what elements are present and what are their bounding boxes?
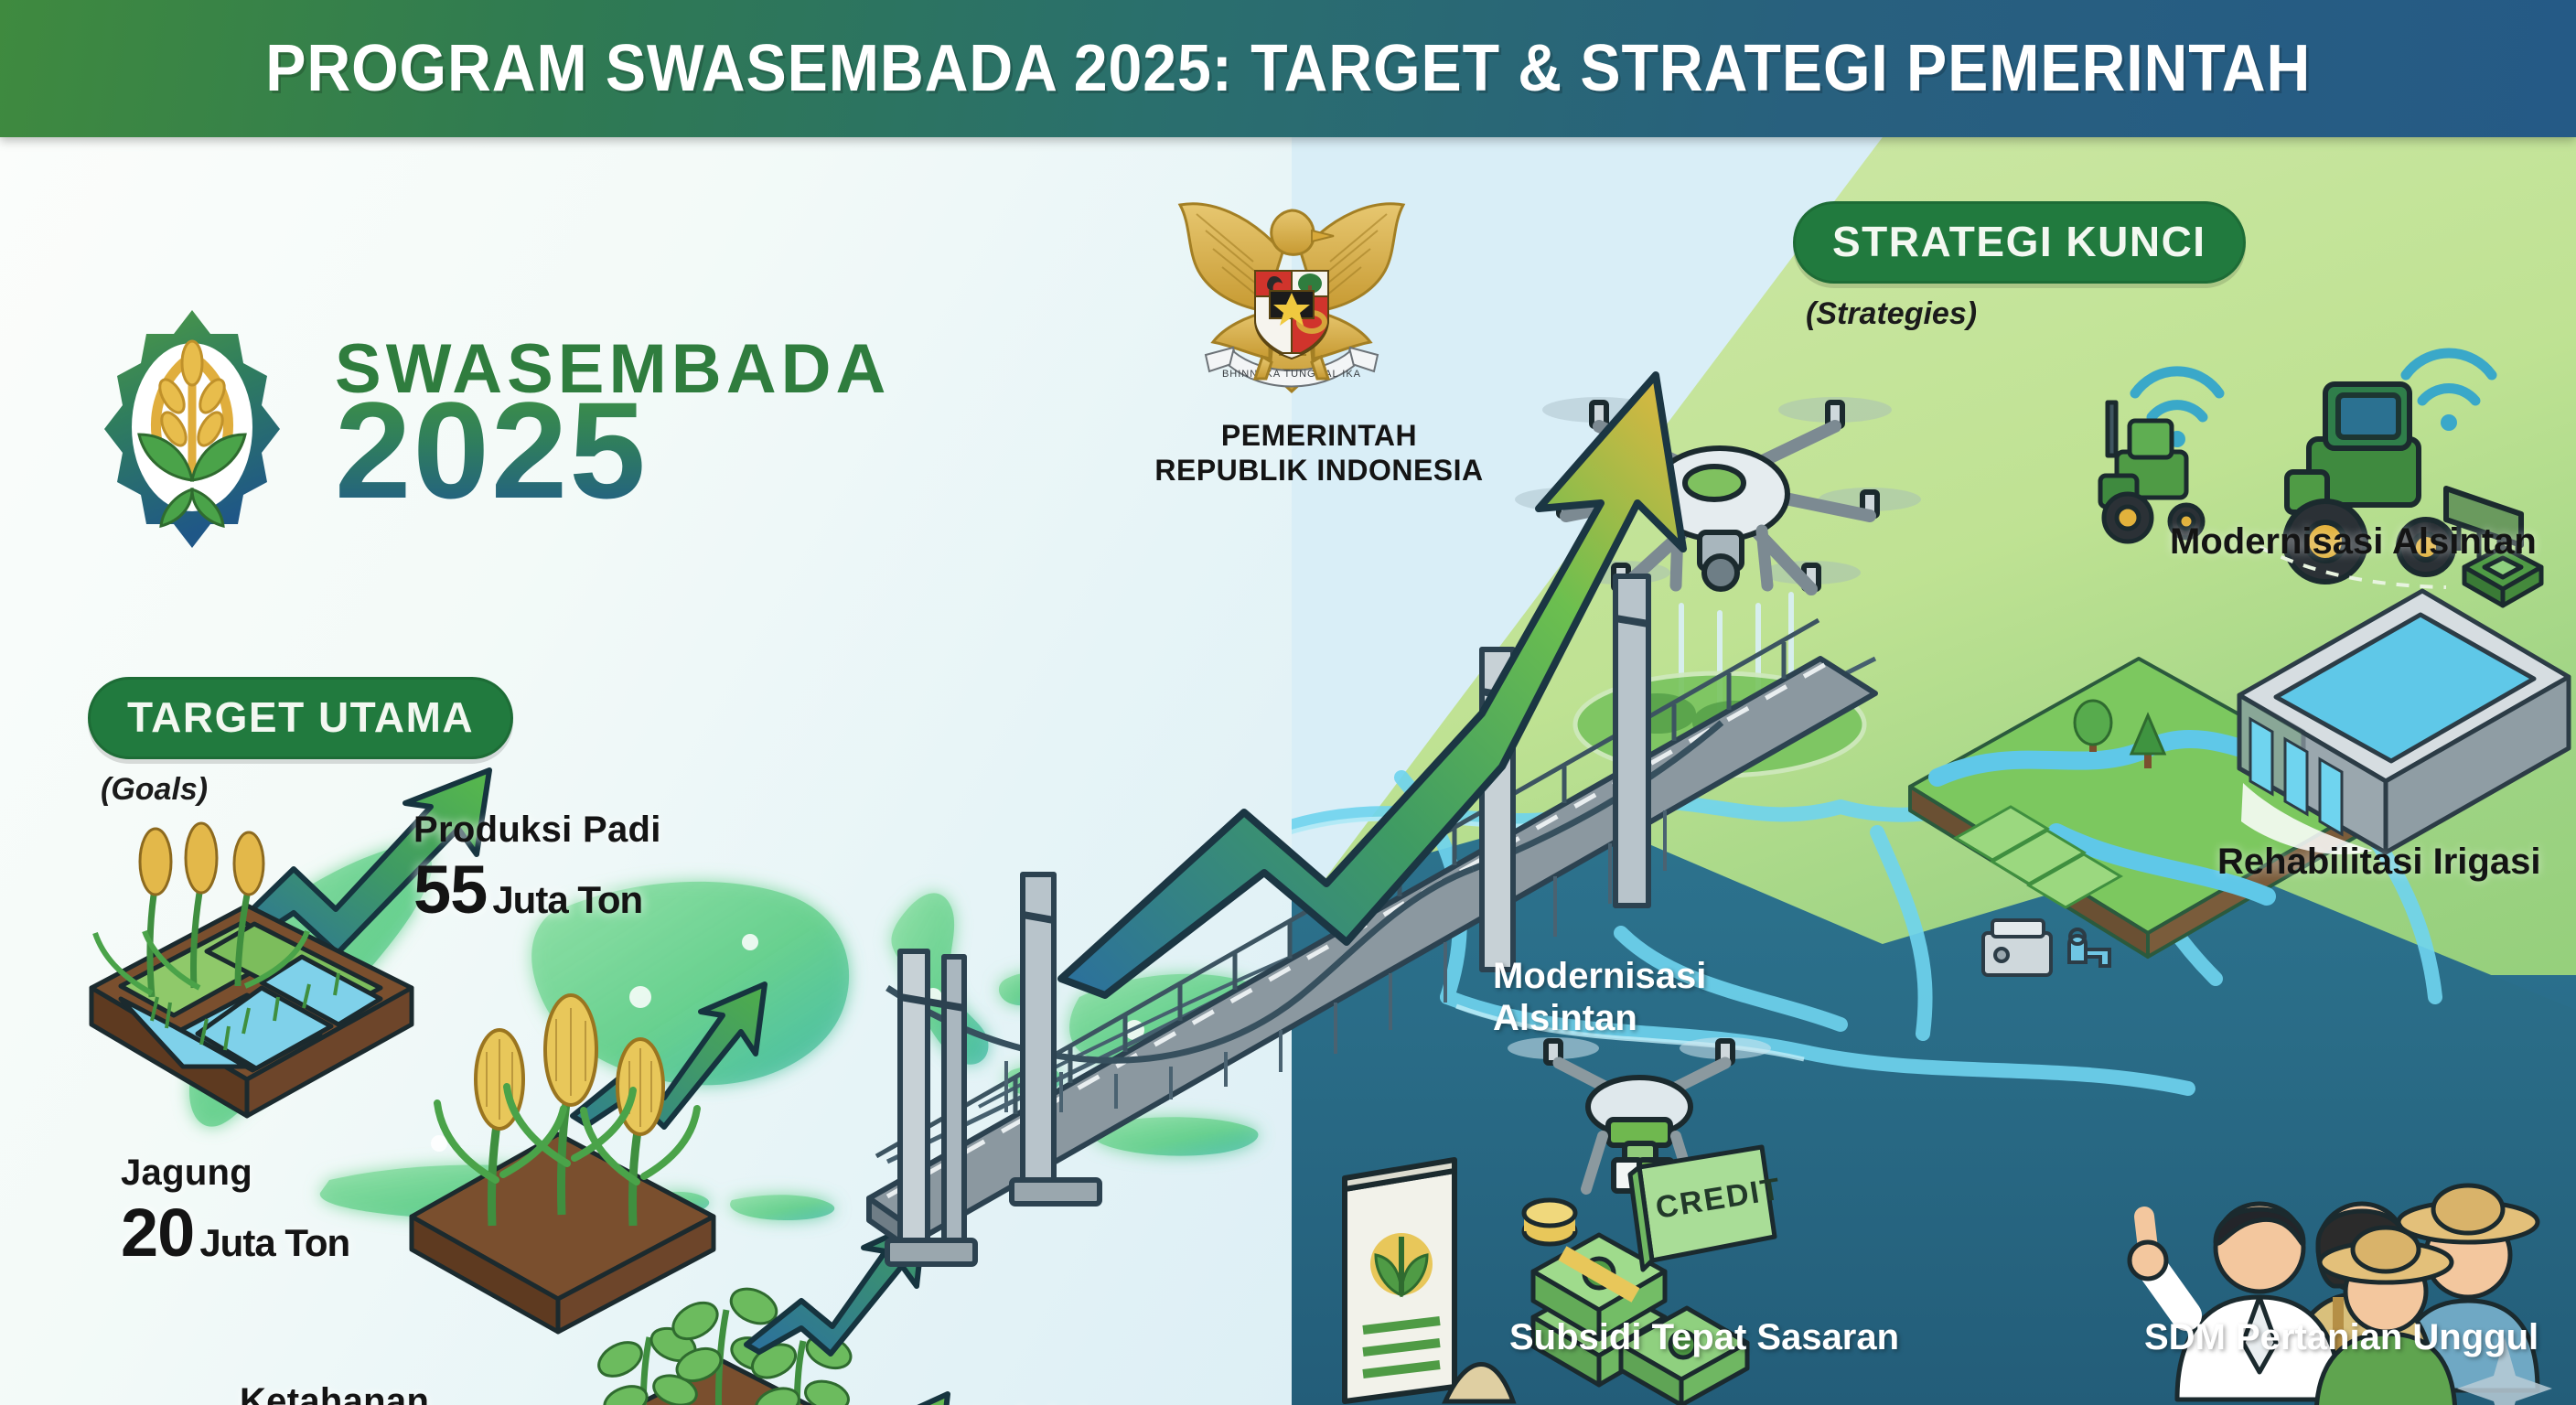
strategy-label-modernisasi-alsintan-mid: Modernisasi Alsintan [1493,956,1706,1039]
strategi-kunci-badge[interactable]: STRATEGI KUNCI [1793,201,2246,284]
strategi-kunci-header: STRATEGI KUNCI (Strategies) [1793,201,2246,332]
poster-title: PROGRAM SWASEMBADA 2025: TARGET & STRATE… [265,31,2311,106]
target-stat-padi: Produksi Padi 55Juta Ton [413,810,661,928]
tractor-smart-farming-icon [2080,293,2574,640]
strategy-label-modernisasi-alsintan-top: Modernisasi Alsintan [2170,521,2537,563]
emblem-caption-line1: PEMERINTAH [1154,419,1484,454]
strategy-label-rehabilitasi-irigasi: Rehabilitasi Irigasi [2217,842,2540,884]
target-value-jagung: 20Juta Ton [121,1194,349,1271]
svg-text:BHINNEKA TUNGGAL IKA: BHINNEKA TUNGGAL IKA [1222,369,1361,380]
farmers-group-icon [2071,1098,2547,1405]
target-label-ketahanan-line1: Ketahanan [240,1381,539,1405]
garuda-emblem-block: BHINNEKA TUNGGAL IKA PEMERINTAH REPUBLIK… [1154,183,1484,488]
target-stat-kedelai: Kedelai 2Juta Ton [957,1401,1149,1405]
infographic-poster: PROGRAM SWASEMBADA 2025: TARGET & STRATE… [0,0,2576,1405]
target-stat-ketahanan-pangan: Ketahanan Pangan Nasional 100% [240,1381,539,1405]
garuda-pancasila-emblem-icon: BHINNEKA TUNGGAL IKA [1154,183,1429,412]
target-utama-subtitle: (Goals) [101,772,513,808]
strategy-label-sdm-pertanian-unggul: SDM Pertanian Unggul [2144,1317,2538,1359]
gear-wheat-leaf-emblem-icon [73,306,311,544]
target-label-jagung: Jagung [121,1153,349,1194]
strategy-label-line1: Modernisasi [1493,956,1706,998]
strategi-kunci-subtitle: (Strategies) [1806,296,2246,332]
brand-logo-block: SWASEMBADA 2025 [73,306,890,544]
target-label-kedelai: Kedelai [957,1401,1149,1405]
soybean-plot-icon [549,1207,942,1405]
target-unit-padi: Juta Ton [492,878,642,921]
target-unit-jagung: Juta Ton [199,1221,349,1264]
strategy-label-line2: Alsintan [1493,998,1706,1040]
brand-year: 2025 [335,387,890,513]
poster-header: PROGRAM SWASEMBADA 2025: TARGET & STRATE… [0,0,2576,137]
target-value-padi: 55Juta Ton [413,851,661,928]
target-utama-header: TARGET UTAMA (Goals) [88,677,513,808]
strategy-label-subsidi-tepat-sasaran: Subsidi Tepat Sasaran [1509,1317,1899,1359]
target-stat-jagung: Jagung 20Juta Ton [121,1153,349,1271]
emblem-caption-line2: REPUBLIK INDONESIA [1154,454,1484,488]
target-utama-badge[interactable]: TARGET UTAMA [88,677,513,759]
target-label-padi: Produksi Padi [413,810,661,851]
